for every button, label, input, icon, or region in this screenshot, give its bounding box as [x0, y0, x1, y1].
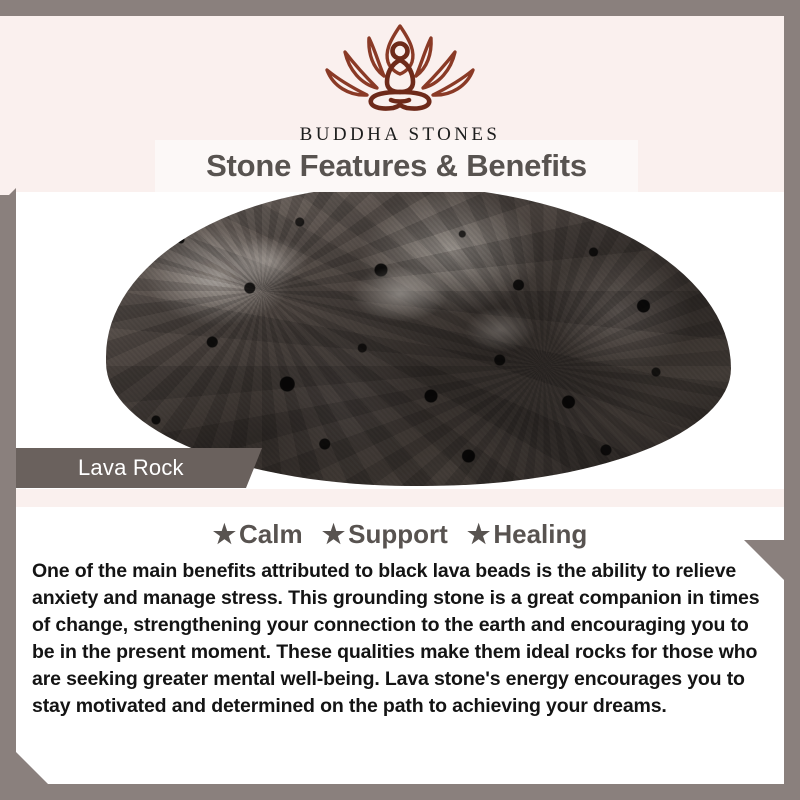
frame-top	[0, 0, 800, 16]
keyword-calm-label: Calm	[239, 519, 303, 549]
title-band: Stone Features & Benefits	[155, 140, 638, 192]
stone-name-label: Lava Rock	[78, 455, 184, 481]
keyword-support: ★Support	[322, 519, 448, 549]
frame-right	[784, 0, 800, 800]
description-text: One of the main benefits attributed to b…	[32, 558, 766, 719]
star-icon: ★	[467, 519, 490, 549]
stone-name-band-slant	[246, 448, 262, 488]
stone-photo	[16, 192, 784, 492]
lotus-meditation-icon	[305, 18, 495, 122]
keyword-support-label: Support	[348, 519, 448, 549]
infographic-card: BUDDHA STONES Stone Features & Benefits …	[0, 0, 800, 800]
brand-logo: BUDDHA STONES	[0, 18, 800, 146]
keyword-calm: ★Calm	[213, 519, 303, 549]
star-icon: ★	[322, 519, 345, 549]
lava-rock-photo	[106, 192, 731, 486]
keyword-healing-label: Healing	[493, 519, 587, 549]
frame-left	[0, 195, 16, 800]
frame-bottom	[0, 784, 800, 800]
stone-name-band: Lava Rock	[16, 448, 246, 488]
rock-highlight	[106, 192, 731, 486]
keyword-row: ★Calm ★Support ★Healing	[16, 519, 784, 550]
content-panel: ★Calm ★Support ★Healing One of the main …	[16, 507, 784, 784]
frame-left-bevel	[0, 188, 16, 204]
divider-strip	[16, 489, 784, 507]
panel-corner-bottom-left	[16, 752, 48, 784]
page-title: Stone Features & Benefits	[206, 148, 587, 184]
keyword-healing: ★Healing	[467, 519, 587, 549]
star-icon: ★	[213, 519, 236, 549]
panel-corner-right	[744, 540, 784, 580]
